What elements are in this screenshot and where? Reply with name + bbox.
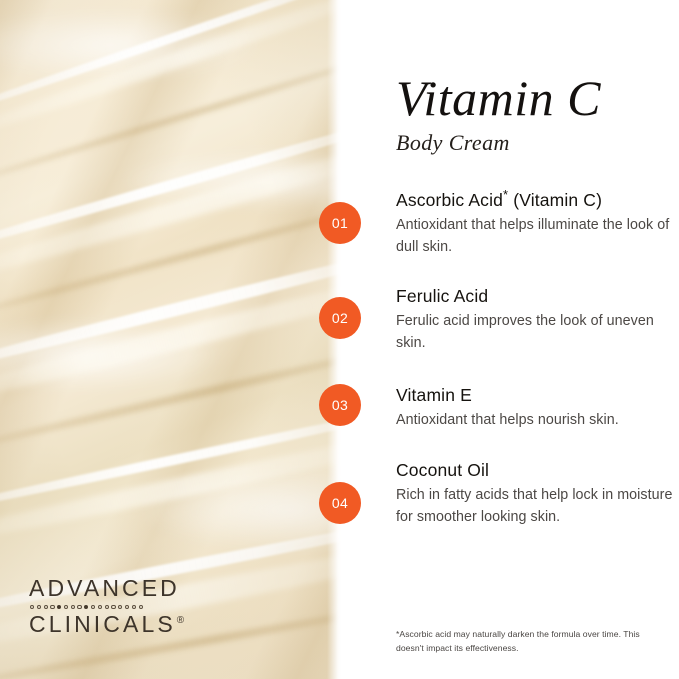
ingredient-heading-text: Ferulic Acid xyxy=(396,286,488,306)
brand-dot xyxy=(91,605,95,609)
badge-number: 04 xyxy=(332,495,348,511)
brand-dot xyxy=(139,605,143,609)
brand-dot xyxy=(77,605,81,609)
ingredient-heading-suffix: (Vitamin C) xyxy=(508,190,602,210)
ingredient-heading-text: Ascorbic Acid xyxy=(396,190,503,210)
brand-name-line-1: ADVANCED xyxy=(29,577,184,600)
brand-dot xyxy=(84,605,88,609)
ingredient-list: Ascorbic Acid* (Vitamin C)Antioxidant th… xyxy=(341,0,679,679)
brand-dot xyxy=(71,605,75,609)
ingredient-heading: Vitamin E xyxy=(396,385,674,407)
footnote: *Ascorbic acid may naturally darken the … xyxy=(396,628,646,656)
ingredient-heading-text: Coconut Oil xyxy=(396,460,489,480)
brand-dot xyxy=(30,605,34,609)
ingredient-description: Antioxidant that helps illuminate the lo… xyxy=(396,215,674,258)
ingredient-number-badge-01: 01 xyxy=(319,202,361,244)
ingredient-heading: Ferulic Acid xyxy=(396,286,674,308)
ingredient-heading: Ascorbic Acid* (Vitamin C) xyxy=(396,190,674,212)
ingredient-description: Ferulic acid improves the look of uneven… xyxy=(396,311,674,354)
ingredient-item-01: Ascorbic Acid* (Vitamin C)Antioxidant th… xyxy=(396,190,674,258)
badge-number: 02 xyxy=(332,310,348,326)
ingredient-description: Rich in fatty acids that help lock in mo… xyxy=(396,485,674,528)
ingredient-item-03: Vitamin EAntioxidant that helps nourish … xyxy=(396,385,674,432)
registered-trademark-icon: ® xyxy=(177,615,184,626)
ingredient-heading-text: Vitamin E xyxy=(396,385,472,405)
brand-dot xyxy=(105,605,109,609)
brand-logo: ADVANCED CLINICALS® xyxy=(29,577,184,636)
ingredient-description: Antioxidant that helps nourish skin. xyxy=(396,410,674,432)
ingredient-number-badge-02: 02 xyxy=(319,297,361,339)
brand-dot xyxy=(57,605,61,609)
brand-dot xyxy=(64,605,68,609)
badge-number: 03 xyxy=(332,397,348,413)
brand-dot xyxy=(125,605,129,609)
footnote-text: Ascorbic acid may naturally darken the f… xyxy=(396,629,640,653)
ingredient-number-badge-03: 03 xyxy=(319,384,361,426)
product-callout-poster: ADVANCED CLINICALS® Vitamin C Body Cream… xyxy=(0,0,679,679)
brand-dot xyxy=(44,605,48,609)
ingredient-number-badge-04: 04 xyxy=(319,482,361,524)
ingredient-heading: Coconut Oil xyxy=(396,460,674,482)
cream-texture-photo: ADVANCED CLINICALS® xyxy=(0,0,341,679)
brand-dot xyxy=(111,605,115,609)
ingredient-item-04: Coconut OilRich in fatty acids that help… xyxy=(396,460,674,528)
content-panel: Vitamin C Body Cream Ascorbic Acid* (Vit… xyxy=(341,0,679,679)
brand-name-line-2: CLINICALS® xyxy=(29,613,184,636)
ingredient-item-02: Ferulic AcidFerulic acid improves the lo… xyxy=(396,286,674,354)
brand-dot xyxy=(118,605,122,609)
badge-number: 01 xyxy=(332,215,348,231)
brand-name-line-2-text: CLINICALS xyxy=(29,611,176,637)
brand-dot xyxy=(50,605,54,609)
brand-dot xyxy=(37,605,41,609)
brand-dot-ornament xyxy=(30,604,184,610)
brand-dot xyxy=(98,605,102,609)
brand-dot xyxy=(132,605,136,609)
